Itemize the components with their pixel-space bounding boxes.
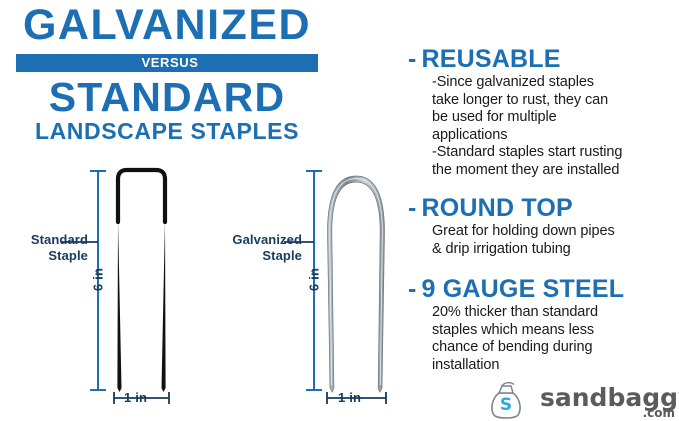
logo-tld: .com xyxy=(643,407,675,420)
feature-9-gauge-steel-heading: -9 GAUGE STEEL xyxy=(408,274,676,304)
galvanized-staple-label: Galvanized Staple xyxy=(202,232,302,264)
feature-round-top-heading-text: ROUND TOP xyxy=(422,194,573,222)
standard-staple-label: Standard Staple xyxy=(2,232,88,264)
infographic-root: GALVANIZED VERSUS STANDARD LANDSCAPE STA… xyxy=(0,0,679,421)
feature-reusable-heading: -REUSABLE xyxy=(408,44,676,74)
standard-staple-label-line2: Staple xyxy=(48,248,88,263)
feature-reusable-heading-text: REUSABLE xyxy=(422,45,561,73)
bullet-dash-icon: - xyxy=(408,275,417,303)
feature-reusable-body-line-6: the moment they are installed xyxy=(432,162,676,180)
galvanized-staple-label-line2: Staple xyxy=(262,248,302,263)
standard-width-label: 1 in xyxy=(124,390,147,405)
feature-reusable: -REUSABLE -Since galvanized staples take… xyxy=(408,44,676,179)
diagram-galvanized-staple: Galvanized Staple 6 in 1 in xyxy=(196,160,396,415)
bullet-dash-icon: - xyxy=(408,45,417,73)
diagram-standard-staple: Standard Staple 6 in 1 in xyxy=(0,160,196,415)
galvanized-height-label: 6 in xyxy=(307,260,322,300)
feature-reusable-body-line-3: be used for multiple xyxy=(432,109,676,127)
sandbaggy-logo[interactable]: S sandbaggy .com xyxy=(487,379,677,421)
feature-9-gauge-steel-body-line-3: chance of bending during xyxy=(432,339,676,357)
feature-9-gauge-steel-heading-text: 9 GAUGE STEEL xyxy=(422,275,625,303)
galvanized-staple-shape xyxy=(328,176,385,392)
feature-round-top-body: Great for holding down pipes & drip irri… xyxy=(408,223,676,258)
versus-label: VERSUS xyxy=(19,55,321,71)
feature-9-gauge-steel: -9 GAUGE STEEL 20% thicker than standard… xyxy=(408,274,676,374)
feature-9-gauge-steel-body-line-1: 20% thicker than standard xyxy=(432,304,676,322)
title-landscape-staples: LANDSCAPE STAPLES xyxy=(16,118,318,144)
galvanized-width-label: 1 in xyxy=(338,390,361,405)
feature-9-gauge-steel-body-line-2: staples which means less xyxy=(432,322,676,340)
standard-staple-shape xyxy=(117,170,165,392)
feature-list: -REUSABLE -Since galvanized staples take… xyxy=(408,44,676,378)
feature-reusable-body-line-1: -Since galvanized staples xyxy=(432,74,676,92)
title-galvanized: GALVANIZED xyxy=(16,2,318,48)
galvanized-staple-drawing xyxy=(196,160,396,415)
standard-height-label: 6 in xyxy=(91,260,106,300)
feature-round-top-body-line-1: Great for holding down pipes xyxy=(432,223,676,241)
galvanized-staple-label-line1: Galvanized xyxy=(232,232,302,247)
feature-reusable-body-line-5: -Standard staples start rusting xyxy=(432,144,676,162)
feature-9-gauge-steel-body-line-4: installation xyxy=(432,357,676,375)
feature-round-top: -ROUND TOP Great for holding down pipes … xyxy=(408,193,676,258)
feature-reusable-body: -Since galvanized staples take longer to… xyxy=(408,74,676,179)
feature-reusable-body-line-2: take longer to rust, they can xyxy=(432,92,676,110)
feature-round-top-body-line-2: & drip irrigation tubing xyxy=(432,241,676,259)
bullet-dash-icon: - xyxy=(408,194,417,222)
feature-9-gauge-steel-body: 20% thicker than standard staples which … xyxy=(408,304,676,374)
feature-round-top-heading: -ROUND TOP xyxy=(408,193,676,223)
feature-reusable-body-line-4: applications xyxy=(432,127,676,145)
sandbag-icon: S xyxy=(487,379,535,421)
standard-staple-label-line1: Standard xyxy=(31,232,88,247)
logo-monogram: S xyxy=(500,395,512,415)
title-standard: STANDARD xyxy=(16,75,318,119)
